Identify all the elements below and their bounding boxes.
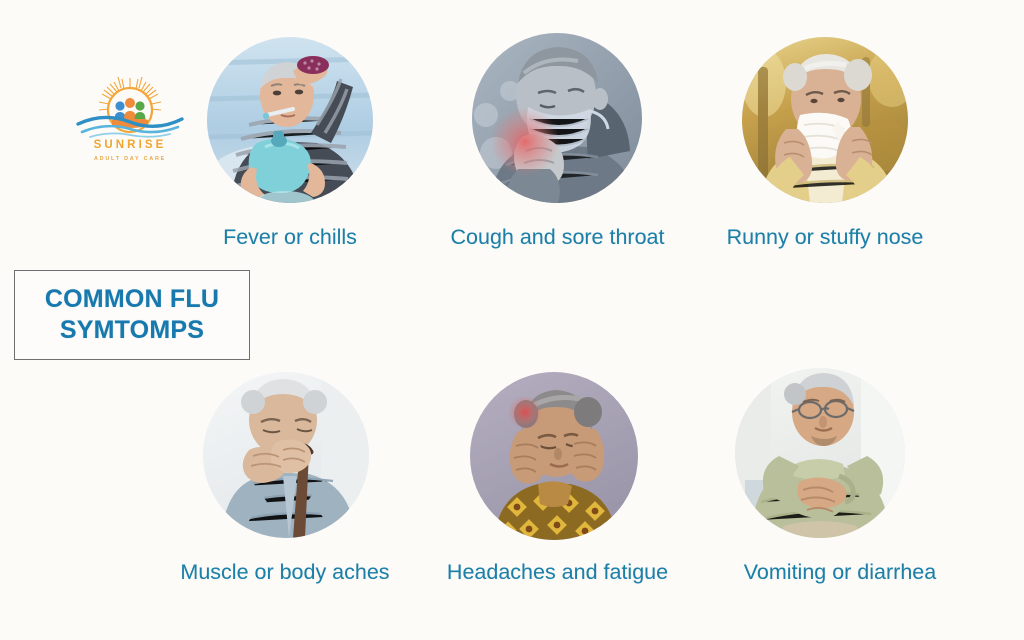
symptom-photo-fever-or-chills [207, 37, 373, 203]
symptom-caption-fever-or-chills: Fever or chills [190, 226, 390, 250]
symptom-photo-runny-or-stuffy-nose [742, 37, 908, 203]
title-box: COMMON FLU SYMTOMPS [14, 270, 250, 360]
runny-nose-photo-art [742, 37, 908, 203]
sunrise-logo-mark [72, 72, 188, 144]
symptom-photo-muscle-or-body-aches [203, 372, 369, 538]
poster-canvas: SUNRISE ADULT DAY CARE COMMON FLU SYMTOM… [0, 0, 1024, 640]
sunrise-logo: SUNRISE ADULT DAY CARE [72, 72, 188, 176]
page-title: COMMON FLU SYMTOMPS [45, 284, 219, 347]
symptom-caption-runny-or-stuffy-nose: Runny or stuffy nose [700, 226, 950, 250]
stomach-pain-photo-art [735, 368, 905, 538]
logo-tagline: ADULT DAY CARE [72, 157, 188, 162]
page-title-line2: SYMTOMPS [60, 316, 204, 344]
symptom-caption-muscle-or-body-aches: Muscle or body aches [155, 561, 415, 585]
body-aches-photo-art [203, 372, 369, 538]
symptom-caption-vomiting-or-diarrhea: Vomiting or diarrhea [715, 561, 965, 585]
symptom-caption-cough-and-sore-throat: Cough and sore throat [425, 226, 690, 250]
symptom-photo-vomiting-or-diarrhea [735, 368, 905, 538]
logo-wordmark: SUNRISE [72, 140, 188, 152]
fever-photo-art [207, 37, 373, 203]
symptom-photo-cough-and-sore-throat [472, 33, 642, 203]
headache-photo-art [470, 372, 638, 540]
cough-photo-art [472, 33, 642, 203]
symptom-caption-headaches-and-fatigue: Headaches and fatigue [425, 561, 690, 585]
sun-wave-people-icon [72, 72, 188, 144]
page-title-line1: COMMON FLU [45, 285, 219, 313]
symptom-photo-headaches-and-fatigue [470, 372, 638, 540]
